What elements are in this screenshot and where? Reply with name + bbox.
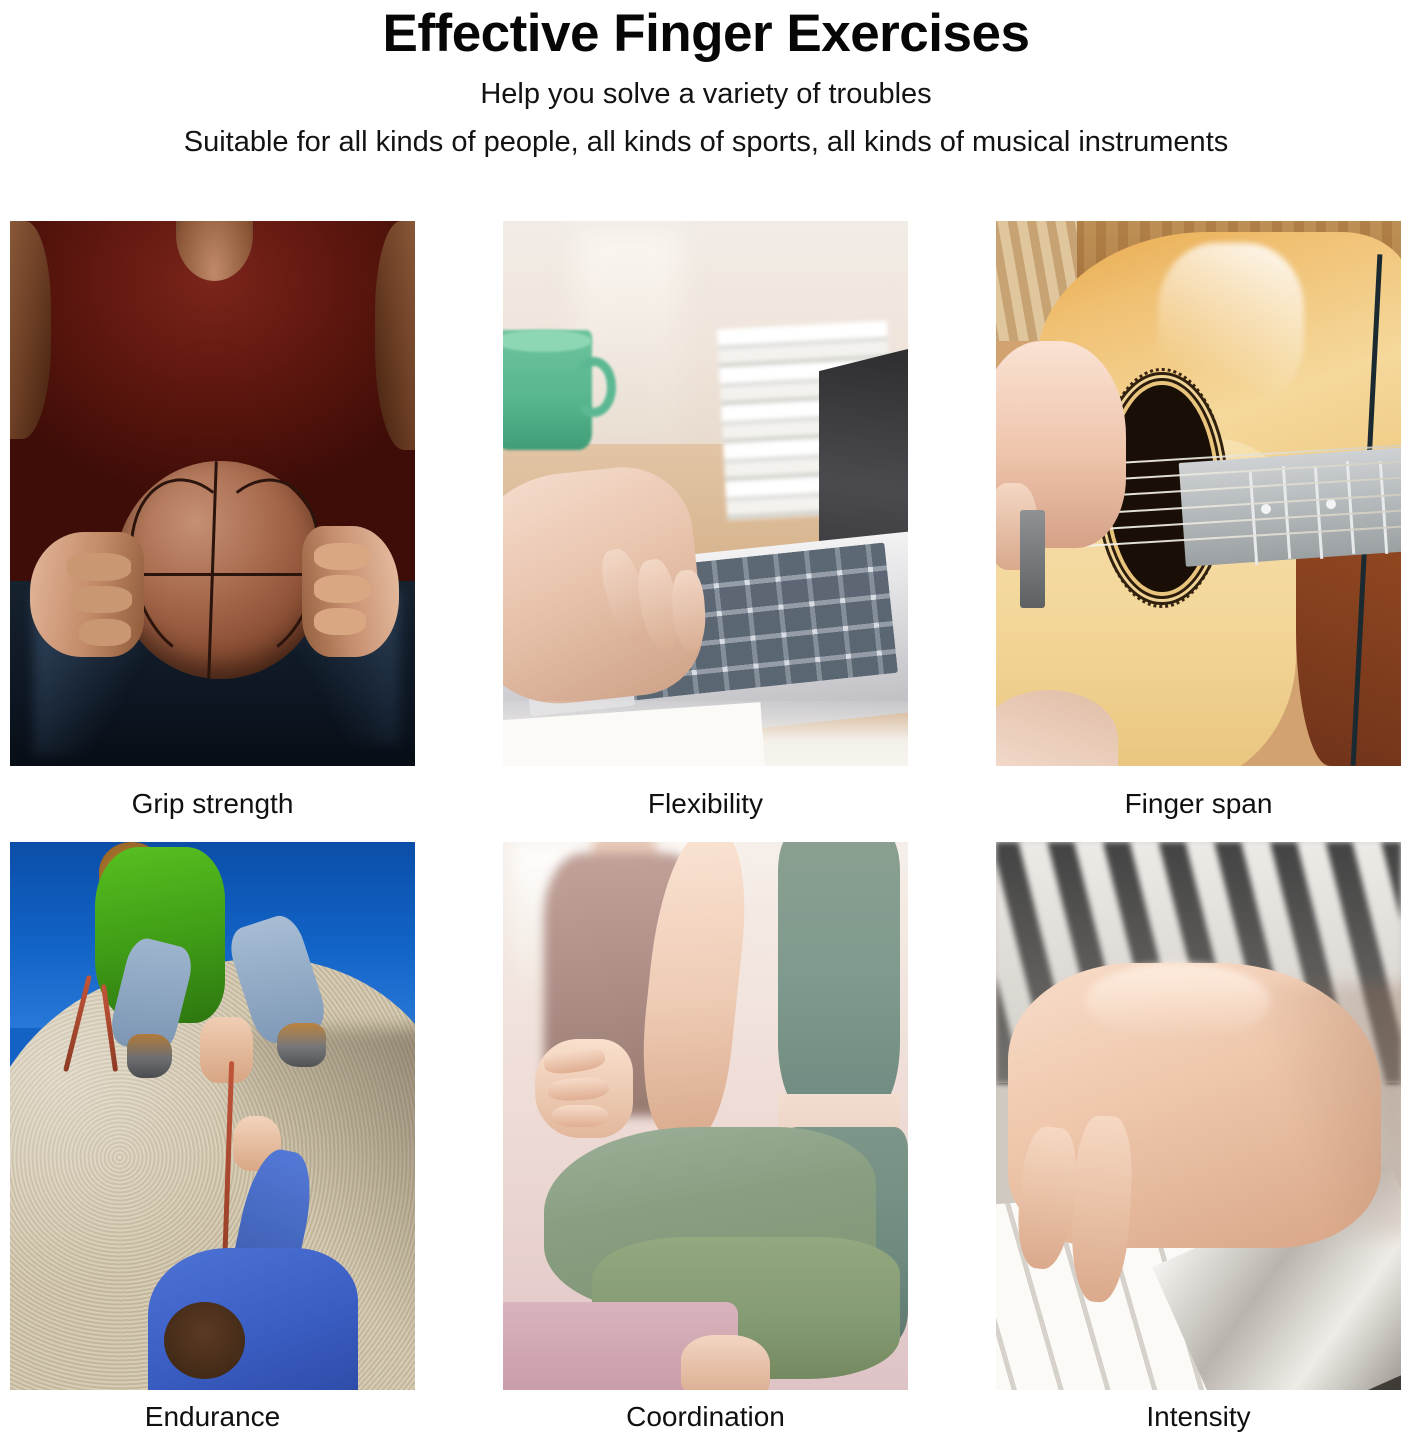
subtitle-primary: Help you solve a variety of troubles [0, 72, 1412, 116]
basketball-grip-photo [10, 221, 415, 766]
feature-grid-row-2: Endurance C [10, 842, 1402, 1444]
feature-cell-intensity: Intensity [996, 842, 1401, 1444]
piano-playing-photo [996, 842, 1401, 1390]
feature-grid: Grip strength [10, 221, 1402, 842]
subtitle-secondary: Suitable for all kinds of people, all ki… [0, 120, 1412, 164]
rock-climbing-photo [10, 842, 415, 1390]
product-infographic-page: Effective Finger Exercises Help you solv… [0, 0, 1412, 1444]
feature-caption: Endurance [10, 1390, 415, 1444]
feature-caption: Coordination [503, 1390, 908, 1444]
feature-cell-endurance: Endurance [10, 842, 415, 1444]
feature-cell-grip-strength: Grip strength [10, 221, 415, 842]
feature-cell-finger-span: Finger span [996, 221, 1401, 842]
feature-caption: Flexibility [503, 766, 908, 842]
feature-cell-flexibility: Flexibility [503, 221, 908, 842]
feature-caption: Grip strength [10, 766, 415, 842]
page-title: Effective Finger Exercises [0, 2, 1412, 66]
feature-cell-coordination: Coordination [503, 842, 908, 1444]
yoga-meditation-photo [503, 842, 908, 1390]
header: Effective Finger Exercises Help you solv… [0, 0, 1412, 164]
acoustic-guitar-photo [996, 221, 1401, 766]
feature-caption: Intensity [996, 1390, 1401, 1444]
laptop-typing-photo [503, 221, 908, 766]
feature-caption: Finger span [996, 766, 1401, 842]
